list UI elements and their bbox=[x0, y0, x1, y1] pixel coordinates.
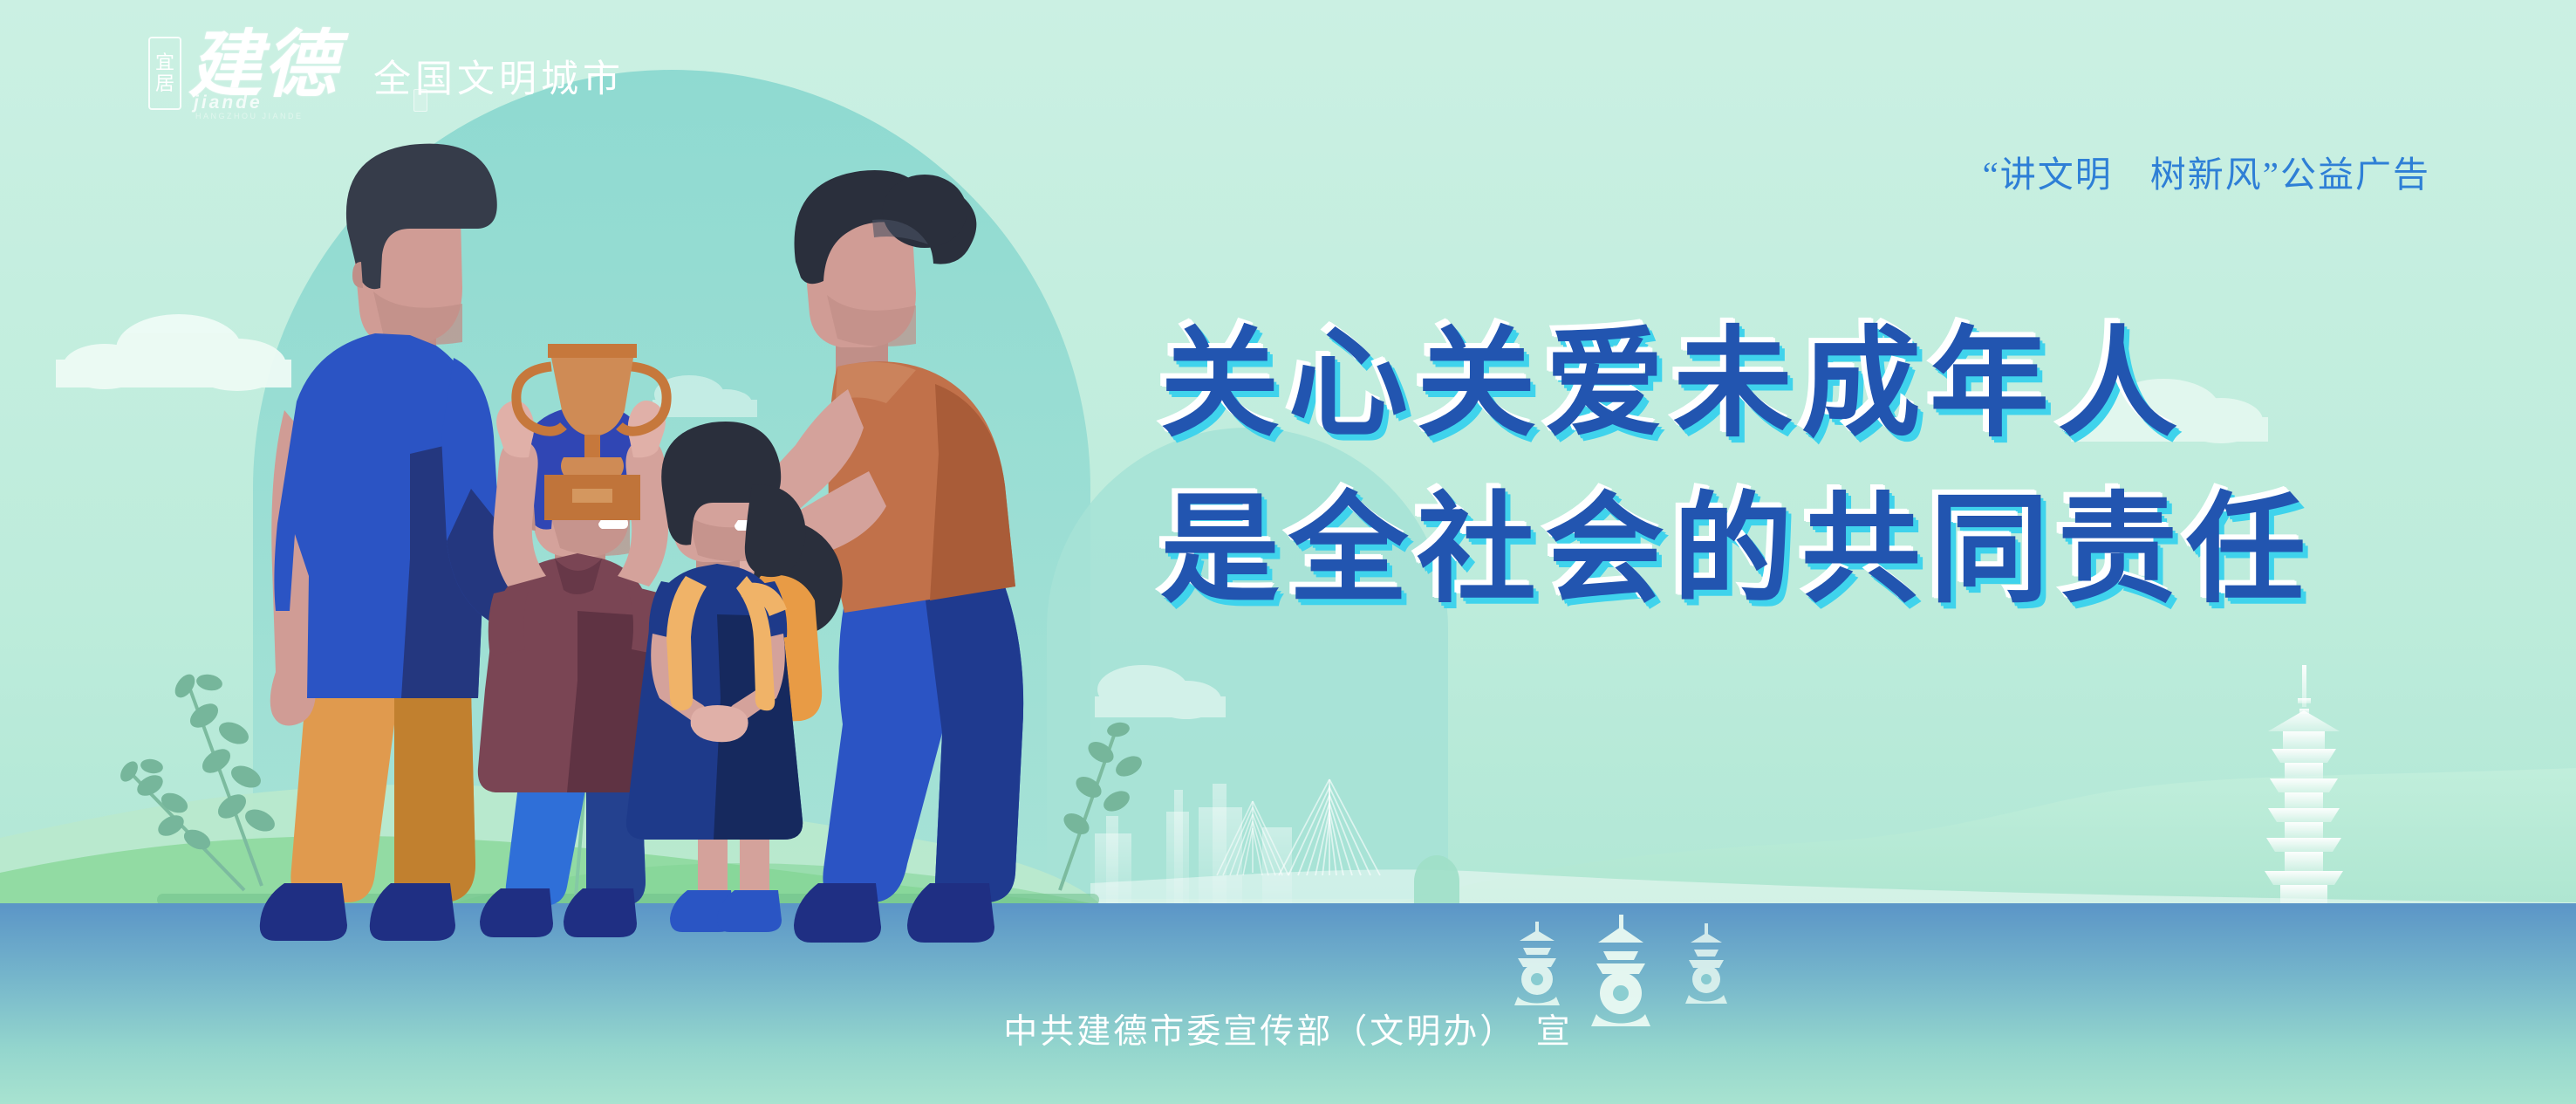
mother-shoe-right bbox=[907, 883, 994, 943]
father-shoe-left bbox=[260, 883, 347, 941]
logo-mark: 宜 居 建德 jiande HANGZHOU JIANDE bbox=[148, 31, 338, 110]
mother-top-shadow bbox=[930, 384, 1015, 600]
logo-tagline: 全国文明城市 bbox=[373, 49, 625, 110]
mother-pants-shadow bbox=[925, 586, 1023, 902]
brand-seal-mark bbox=[413, 89, 427, 112]
girl-hands bbox=[691, 705, 748, 742]
yiju-badge-char-1: 宜 bbox=[155, 53, 174, 72]
boy-shoe-left bbox=[480, 888, 553, 937]
brand-pinyin: jiande bbox=[194, 93, 263, 113]
trophy-rim bbox=[548, 344, 637, 358]
headline: 关心关爱未成年人 是全社会的共同责任 bbox=[1160, 325, 2314, 610]
brand-wordmark: 建德 jiande HANGZHOU JIANDE bbox=[188, 31, 338, 101]
publisher-credit: 中共建德市委宣传部（文明办） 宣 bbox=[0, 1005, 2576, 1053]
yiju-badge: 宜 居 bbox=[148, 37, 181, 110]
campaign-tag: “讲文明 树新风”公益广告 bbox=[1983, 145, 2430, 197]
headline-line-2: 是全社会的共同责任 bbox=[1160, 490, 2314, 610]
trophy-stem bbox=[584, 435, 600, 457]
public-service-ad-poster: 宜 居 建德 jiande HANGZHOU JIANDE 全国文明城市 “讲文… bbox=[0, 0, 2576, 1104]
trophy-foot bbox=[561, 457, 624, 475]
trophy-plate bbox=[572, 489, 612, 503]
brand-subtitle: HANGZHOU JIANDE bbox=[195, 112, 304, 120]
headline-line-1: 关心关爱未成年人 bbox=[1160, 325, 2314, 444]
city-logo: 宜 居 建德 jiande HANGZHOU JIANDE 全国文明城市 bbox=[148, 31, 625, 110]
mother-shoe-left bbox=[794, 883, 881, 943]
boy-shoe-right bbox=[564, 888, 637, 937]
father-shoe-right bbox=[370, 883, 455, 941]
father-ear bbox=[352, 262, 363, 288]
brand-name: 建德 bbox=[188, 31, 338, 101]
yiju-badge-char-2: 居 bbox=[155, 74, 174, 93]
